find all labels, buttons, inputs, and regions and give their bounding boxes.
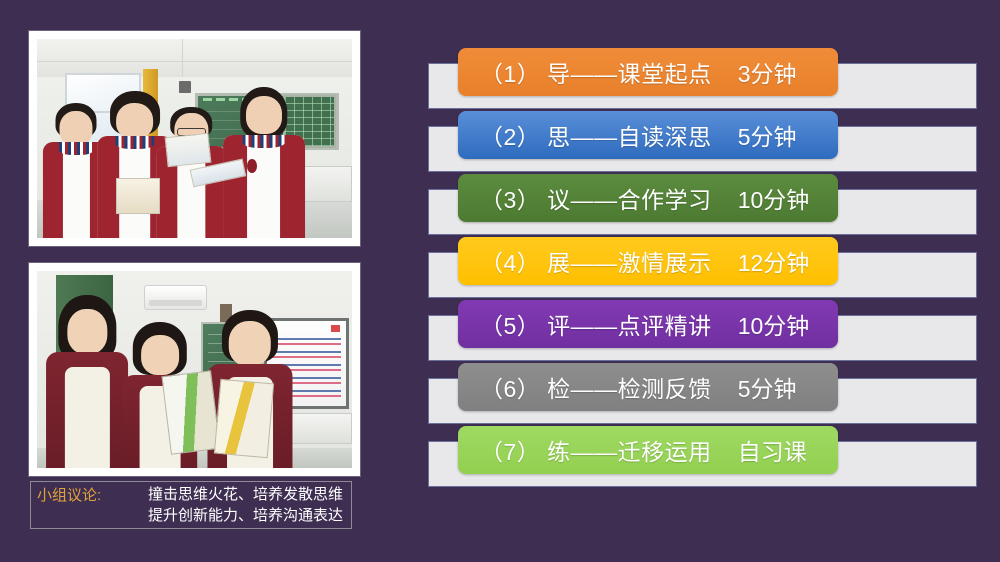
step-pill[interactable]: （3） 议——合作学习10分钟 <box>458 174 838 222</box>
step-label: （5） 评——点评精讲 <box>458 307 712 341</box>
step-duration: 12分钟 <box>712 244 810 278</box>
step-duration: 5分钟 <box>712 370 797 404</box>
step-label: （1） 导——课堂起点 <box>458 55 712 89</box>
step-label: （4） 展——激情展示 <box>458 244 712 278</box>
step-pill[interactable]: （2） 思——自读深思5分钟 <box>458 111 838 159</box>
step-label: （3） 议——合作学习 <box>458 181 712 215</box>
step-label: （2） 思——自读深思 <box>458 118 712 152</box>
step-pill[interactable]: （4） 展——激情展示12分钟 <box>458 237 838 285</box>
step-duration: 自习课 <box>712 433 807 467</box>
step-pill[interactable]: （5） 评——点评精讲10分钟 <box>458 300 838 348</box>
step-duration: 3分钟 <box>712 55 797 89</box>
step-row[interactable]: （4） 展——激情展示12分钟 <box>428 237 977 285</box>
step-pill[interactable]: （1） 导——课堂起点3分钟 <box>458 48 838 96</box>
seven-step-lesson-flow-list: （1） 导——课堂起点3分钟（2） 思——自读深思5分钟（3） 议——合作学习1… <box>0 0 1000 562</box>
step-row[interactable]: （1） 导——课堂起点3分钟 <box>428 48 977 96</box>
step-row[interactable]: （2） 思——自读深思5分钟 <box>428 111 977 159</box>
step-duration: 5分钟 <box>712 118 797 152</box>
step-row[interactable]: （3） 议——合作学习10分钟 <box>428 174 977 222</box>
step-duration: 10分钟 <box>712 181 810 215</box>
step-row[interactable]: （6） 检——检测反馈5分钟 <box>428 363 977 411</box>
step-duration: 10分钟 <box>712 307 810 341</box>
step-row[interactable]: （5） 评——点评精讲10分钟 <box>428 300 977 348</box>
step-pill[interactable]: （6） 检——检测反馈5分钟 <box>458 363 838 411</box>
step-pill[interactable]: （7） 练——迁移运用自习课 <box>458 426 838 474</box>
step-row[interactable]: （7） 练——迁移运用自习课 <box>428 426 977 474</box>
step-label: （7） 练——迁移运用 <box>458 433 712 467</box>
step-label: （6） 检——检测反馈 <box>458 370 712 404</box>
